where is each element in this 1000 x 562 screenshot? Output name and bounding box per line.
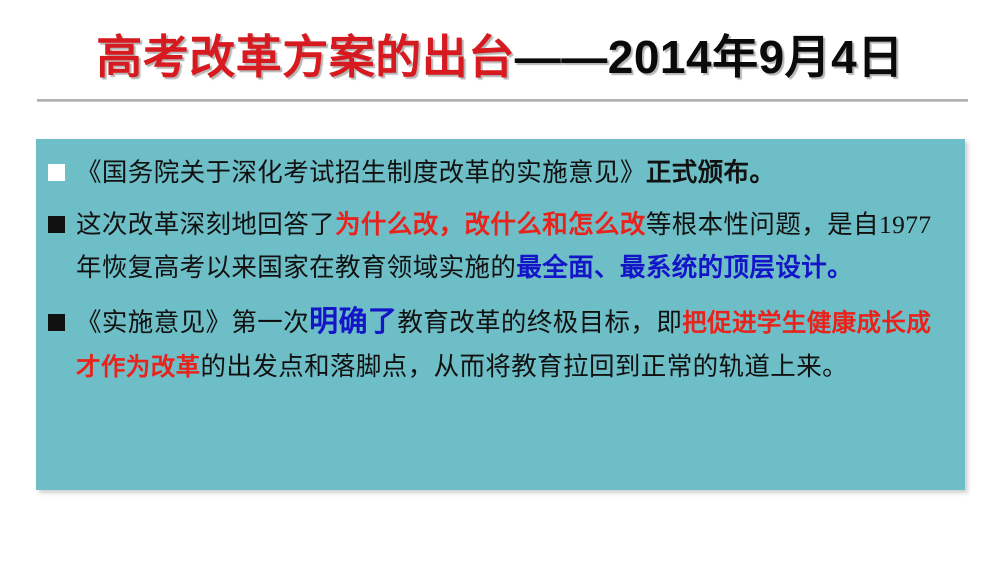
page-title: 高考改革方案的出台——2014年9月4日 — [0, 28, 1000, 87]
content-panel: 《国务院关于深化考试招生制度改革的实施意见》正式颁布。 这次改革深刻地回答了为什… — [36, 139, 965, 490]
bullet-3-segment-5: 的出发点和落脚点，从而将教育拉回到正常的轨道上来。 — [201, 352, 849, 381]
bullet-square-icon-white — [48, 164, 65, 181]
bullet-2-segment-2: 为什么改，改什么和怎么改 — [335, 210, 646, 239]
bullet-1-segment-1: 《国务院关于深化考试招生制度改革的实施意见》 — [76, 158, 646, 187]
bullet-2-segment-1: 这次改革深刻地回答了 — [76, 210, 335, 239]
title-divider — [37, 99, 968, 102]
bullet-square-icon-black — [48, 314, 65, 331]
bullet-item-1-text: 《国务院关于深化考试招生制度改革的实施意见》正式颁布。 — [76, 151, 951, 195]
bullet-1-segment-2: 正式颁布。 — [646, 159, 776, 187]
bullet-item-3: 《实施意见》第一次明确了教育改革的终极目标，即把促进学生健康成长成才作为改革的出… — [48, 301, 951, 389]
bullet-item-1: 《国务院关于深化考试招生制度改革的实施意见》正式颁布。 — [48, 151, 951, 195]
slide-canvas: { "slide": { "title": { "red_part": "高考改… — [0, 0, 1000, 562]
bullet-item-3-text: 《实施意见》第一次明确了教育改革的终极目标，即把促进学生健康成长成才作为改革的出… — [76, 301, 951, 389]
page-title-red-text: 高考改革方案的出台 — [96, 32, 515, 83]
bullet-item-2-text: 这次改革深刻地回答了为什么改，改什么和怎么改等根本性问题，是自1977年恢复高考… — [76, 203, 951, 289]
bullet-square-icon-black — [48, 216, 65, 233]
bullet-2-segment-4: 最全面、最系统的顶层设计。 — [516, 253, 853, 282]
bullet-item-2: 这次改革深刻地回答了为什么改，改什么和怎么改等根本性问题，是自1977年恢复高考… — [48, 203, 951, 289]
bullet-3-segment-2: 明确了 — [309, 306, 397, 338]
bullet-3-segment-1: 《实施意见》第一次 — [76, 308, 309, 337]
page-title-black-text: ——2014年9月4日 — [515, 31, 904, 83]
bullet-3-segment-3: 教育改革的终极目标，即 — [397, 308, 682, 337]
